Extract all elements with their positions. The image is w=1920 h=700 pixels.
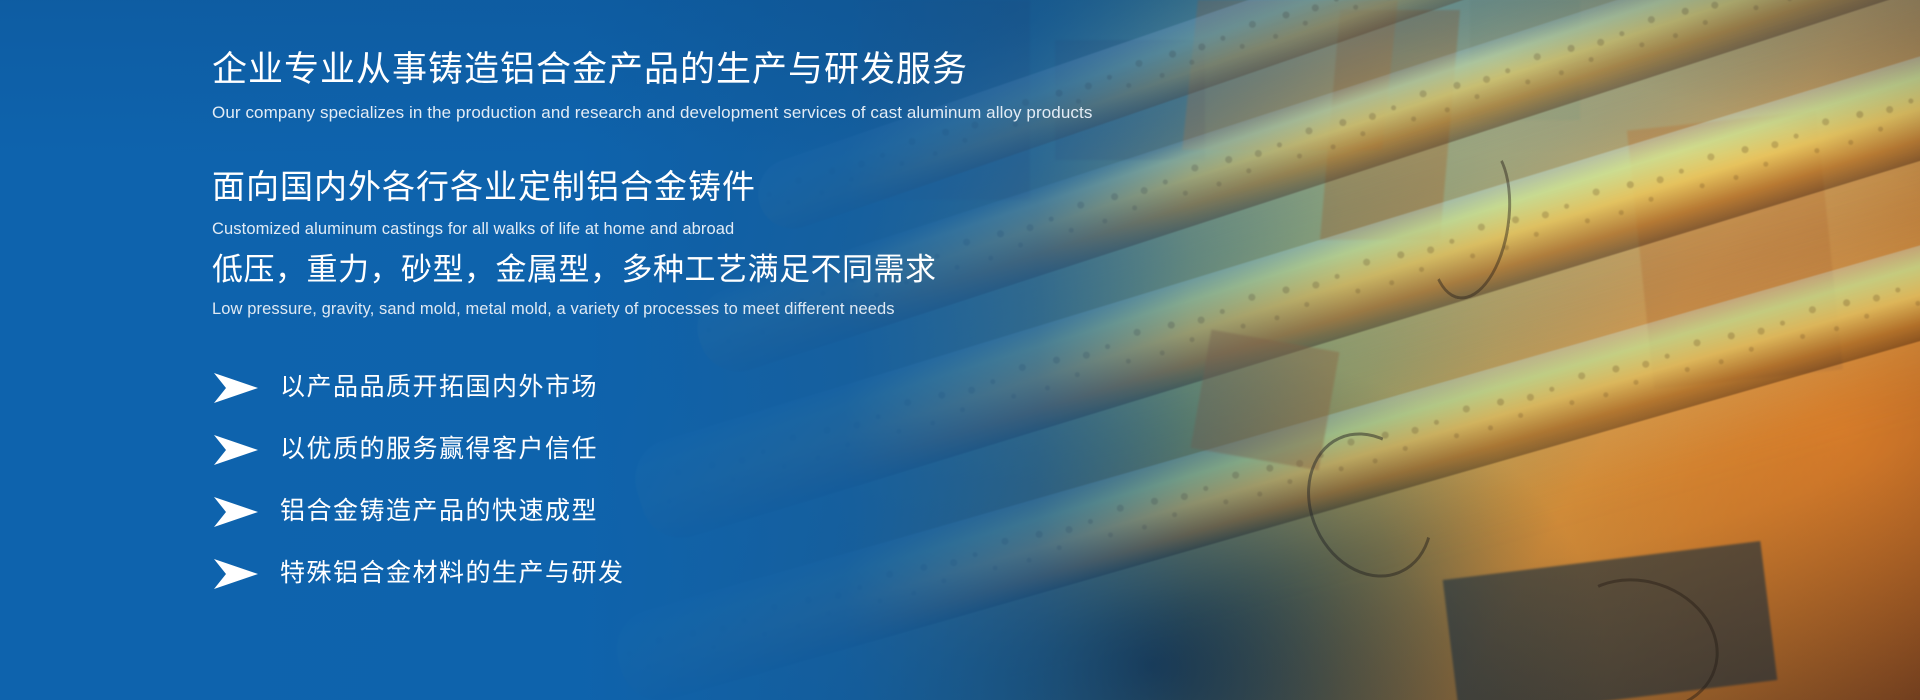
arrow-right-icon [212,371,260,405]
arrow-right-icon [212,557,260,591]
list-item-label: 铝合金铸造产品的快速成型 [280,499,598,524]
headline-en-1: Our company specializes in the productio… [212,102,1412,124]
headline-block-2: 面向国内外各行各业定制铝合金铸件 Customized aluminum cas… [212,166,1412,241]
banner-content: 企业专业从事铸造铝合金产品的生产与研发服务 Our company specia… [212,48,1412,621]
headline-block-1: 企业专业从事铸造铝合金产品的生产与研发服务 Our company specia… [212,48,1412,124]
headline-en-3: Low pressure, gravity, sand mold, metal … [212,299,1412,320]
headline-cn-1: 企业专业从事铸造铝合金产品的生产与研发服务 [212,48,1412,92]
arrow-right-icon [212,433,260,467]
list-item-label: 以产品品质开拓国内外市场 [280,375,598,400]
arrow-right-icon [212,495,260,529]
headline-en-2: Customized aluminum castings for all wal… [212,219,1412,240]
headline-cn-2: 面向国内外各行各业定制铝合金铸件 [212,166,1412,207]
list-item-label: 特殊铝合金材料的生产与研发 [280,561,625,586]
feature-list: 以产品品质开拓国内外市场 以优质的服务赢得客户信任 铝合金铸造产品的快速成型 特… [212,357,1412,605]
list-item[interactable]: 以优质的服务赢得客户信任 [212,419,1412,481]
list-item[interactable]: 特殊铝合金材料的生产与研发 [212,543,1412,605]
list-item[interactable]: 以产品品质开拓国内外市场 [212,357,1412,419]
list-item[interactable]: 铝合金铸造产品的快速成型 [212,481,1412,543]
hero-banner: 企业专业从事铸造铝合金产品的生产与研发服务 Our company specia… [0,0,1920,700]
headline-cn-3: 低压，重力，砂型，金属型，多种工艺满足不同需求 [212,251,1412,290]
list-item-label: 以优质的服务赢得客户信任 [280,437,598,462]
headline-block-3: 低压，重力，砂型，金属型，多种工艺满足不同需求 Low pressure, gr… [212,251,1412,321]
